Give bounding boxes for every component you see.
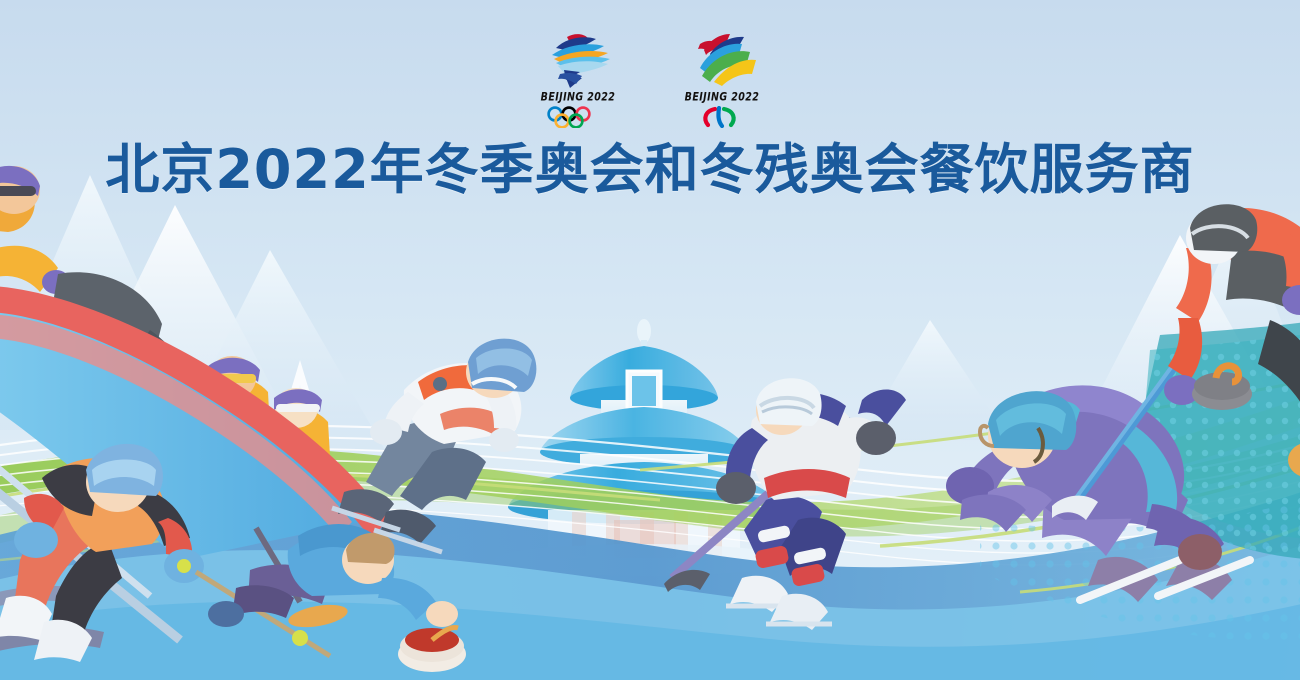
paralympic-agitos-icon [697,106,747,128]
olympic-rings-icon [542,106,614,128]
emblem-wordmark-paralympic: BEIJING 2022 [685,91,760,104]
emblem-winter-olympics: BEIJING 2022 [530,28,626,128]
emblem-wordmark-olympic: BEIJING 2022 [541,91,616,104]
leap-ribbon-emblem-icon [680,28,764,90]
emblem-winter-paralympics: BEIJING 2022 [674,28,770,128]
page-title: 北京2022年冬季奥会和冬残奥会餐饮服务商 [0,143,1300,197]
athlete-short-track-speed-skating [332,339,536,552]
beijing-2022-catering-partner-banner: BEIJING 2022 [0,0,1300,680]
winter-dream-ribbon-emblem-icon [536,28,620,90]
emblem-row: BEIJING 2022 [0,28,1300,128]
athlete-ice-hockey [664,378,906,630]
